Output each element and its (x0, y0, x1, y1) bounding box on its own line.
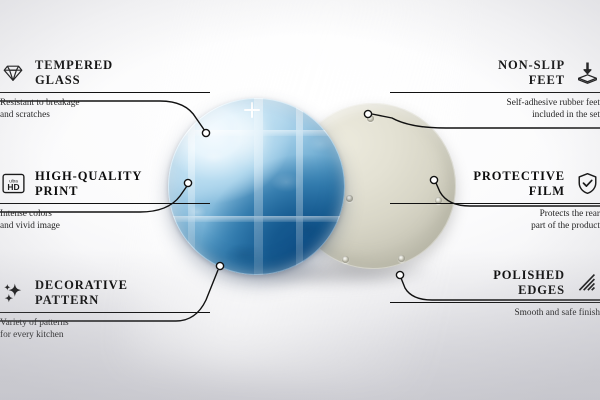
infographic-canvas: TEMPERED GLASS Resistant to breakage and… (0, 0, 600, 400)
vignette-overlay (0, 0, 600, 400)
